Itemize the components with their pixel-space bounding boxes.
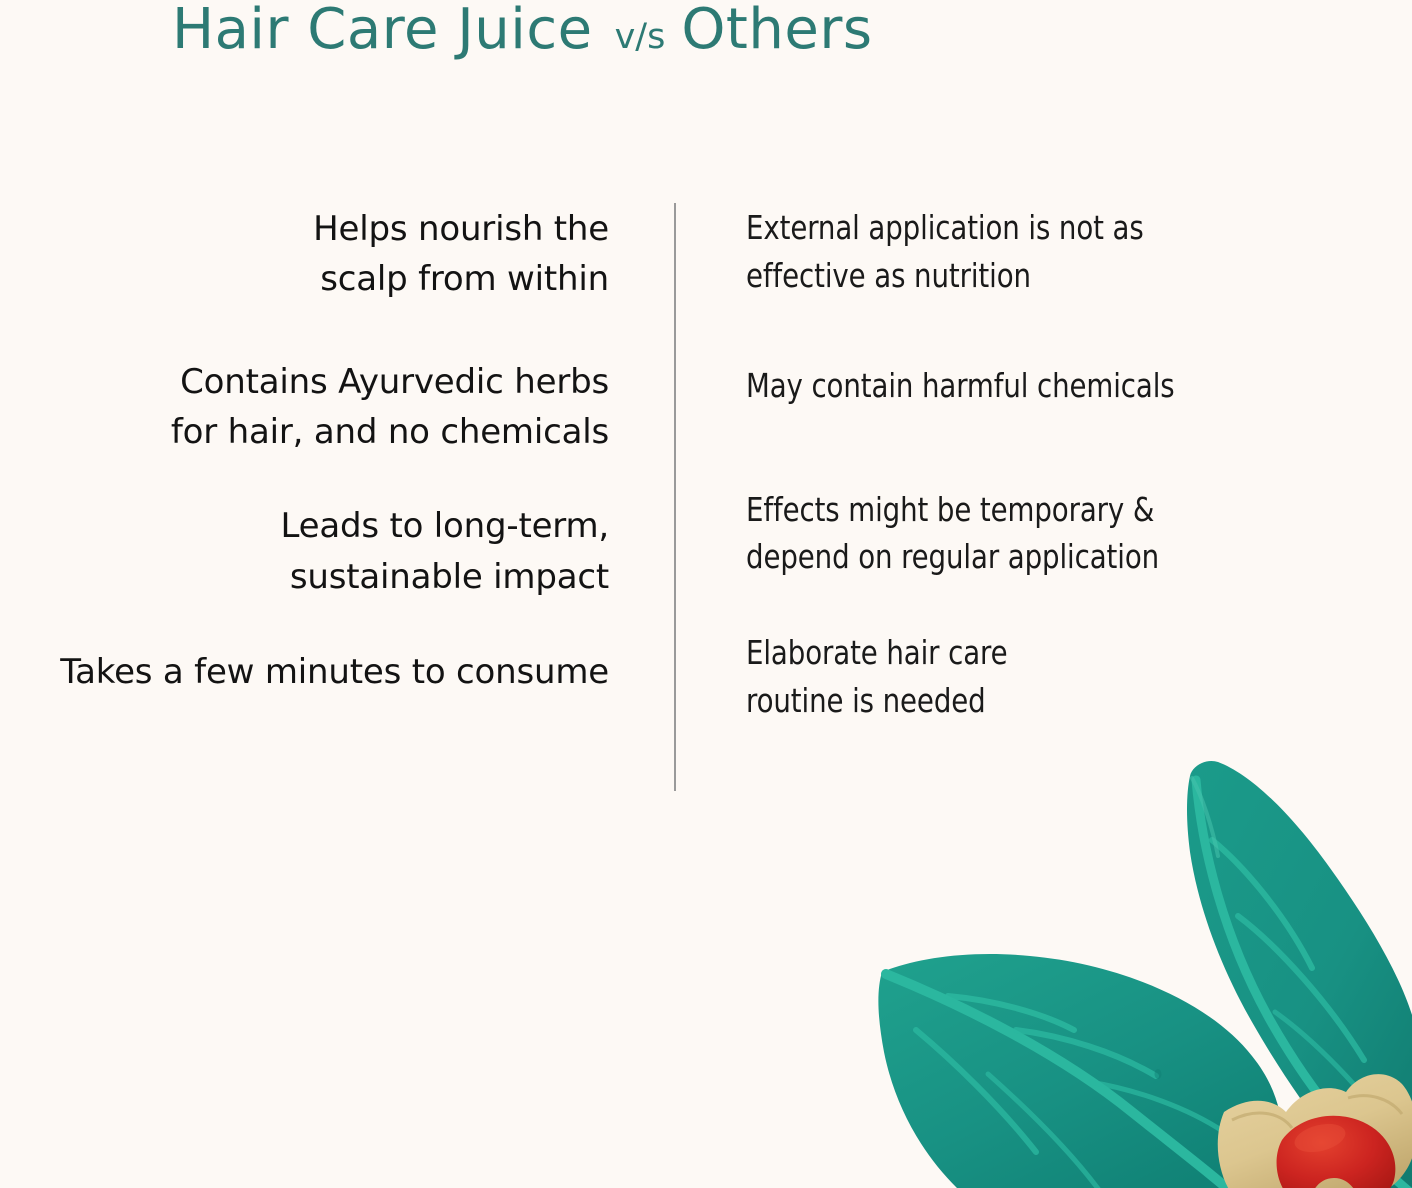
benefit-row-1-line-1: Helps nourish the xyxy=(0,204,609,254)
leaf-lower-vein-u1 xyxy=(948,996,1074,1030)
benefit-row-4-line-1: Takes a few minutes to consume xyxy=(0,647,609,697)
leaves-and-berry-illustration xyxy=(820,700,1412,1188)
leaf-lower-vein-d1 xyxy=(916,1030,1036,1152)
benefit-row-1: Helps nourish the scalp from within xyxy=(0,204,609,305)
berry-fruit xyxy=(1277,1116,1396,1188)
column-others: External application is not as effective… xyxy=(746,204,1406,725)
benefit-row-2-line-2: for hair, and no chemicals xyxy=(0,407,609,457)
leaf-upper-vein-2 xyxy=(1238,916,1364,1060)
drawback-row-3: Effects might be temporary & depend on r… xyxy=(746,486,1360,582)
benefit-row-1-line-2: scalp from within xyxy=(0,254,609,304)
page-title: Hair Care Juice v/s Others xyxy=(0,2,1412,82)
spacer-left-2 xyxy=(0,457,609,501)
berry-in-husk-icon xyxy=(1218,1074,1412,1188)
drawback-row-3-line-2: depend on regular application xyxy=(746,533,1360,581)
drawback-row-4: Elaborate hair care routine is needed xyxy=(746,629,1360,725)
spacer-right-2 xyxy=(746,410,1406,486)
title-brand: Hair Care Juice xyxy=(172,2,593,58)
benefit-row-2: Contains Ayurvedic herbs for hair, and n… xyxy=(0,357,609,458)
berry-husk-fold-1 xyxy=(1232,1113,1292,1128)
leaf-upper-vein-1 xyxy=(1212,840,1312,968)
title-competitor: Others xyxy=(681,2,872,58)
drawback-row-4-line-2: routine is needed xyxy=(746,677,1360,725)
spacer-right-3 xyxy=(746,581,1406,629)
benefit-row-2-line-1: Contains Ayurvedic herbs xyxy=(0,357,609,407)
title-versus: v/s xyxy=(615,20,666,55)
leaf-lower-vein-u3 xyxy=(1090,1082,1224,1132)
benefit-row-3-line-2: sustainable impact xyxy=(0,552,609,602)
drawback-row-1-line-2: effective as nutrition xyxy=(746,252,1360,300)
leaf-upper-right-icon xyxy=(1187,761,1412,1188)
berry-husk xyxy=(1218,1074,1412,1188)
decorative-plant-artwork xyxy=(820,700,1412,1188)
benefit-row-3-line-1: Leads to long-term, xyxy=(0,501,609,551)
drawback-row-4-line-1: Elaborate hair care xyxy=(746,629,1360,677)
leaf-upper-blade xyxy=(1187,761,1412,1188)
berry-highlight xyxy=(1292,1119,1349,1157)
comparison-infographic: Hair Care Juice v/s Others Helps nourish… xyxy=(0,0,1412,1188)
leaf-lower-blade xyxy=(878,954,1282,1188)
spacer-left-1 xyxy=(0,305,609,357)
drawback-row-1: External application is not as effective… xyxy=(746,204,1360,300)
leaf-upper-vein-3 xyxy=(1275,1012,1410,1156)
drawback-row-2-line-1: May contain harmful chemicals xyxy=(746,362,1360,410)
spacer-left-3 xyxy=(0,602,609,647)
leaf-lower-vein-u2 xyxy=(1016,1030,1156,1076)
spacer-right-1 xyxy=(746,300,1406,362)
benefit-row-4: Takes a few minutes to consume xyxy=(0,647,609,697)
leaf-lower-vein-d2 xyxy=(988,1074,1102,1188)
column-divider xyxy=(674,203,676,791)
drawback-row-3-line-1: Effects might be temporary & xyxy=(746,486,1360,534)
leaf-lower-left-icon xyxy=(878,954,1282,1188)
leaf-lower-speck xyxy=(1155,1069,1162,1079)
drawback-row-1-line-1: External application is not as xyxy=(746,204,1360,252)
leaf-lower-midrib xyxy=(886,974,1240,1188)
berry-husk-fold-2 xyxy=(1348,1096,1402,1114)
drawback-row-2: May contain harmful chemicals xyxy=(746,362,1360,410)
leaf-upper-midrib xyxy=(1196,780,1412,1188)
benefit-row-3: Leads to long-term, sustainable impact xyxy=(0,501,609,602)
leaf-upper-tip-highlight xyxy=(1192,778,1218,856)
column-hair-care-juice: Helps nourish the scalp from within Cont… xyxy=(0,204,609,697)
